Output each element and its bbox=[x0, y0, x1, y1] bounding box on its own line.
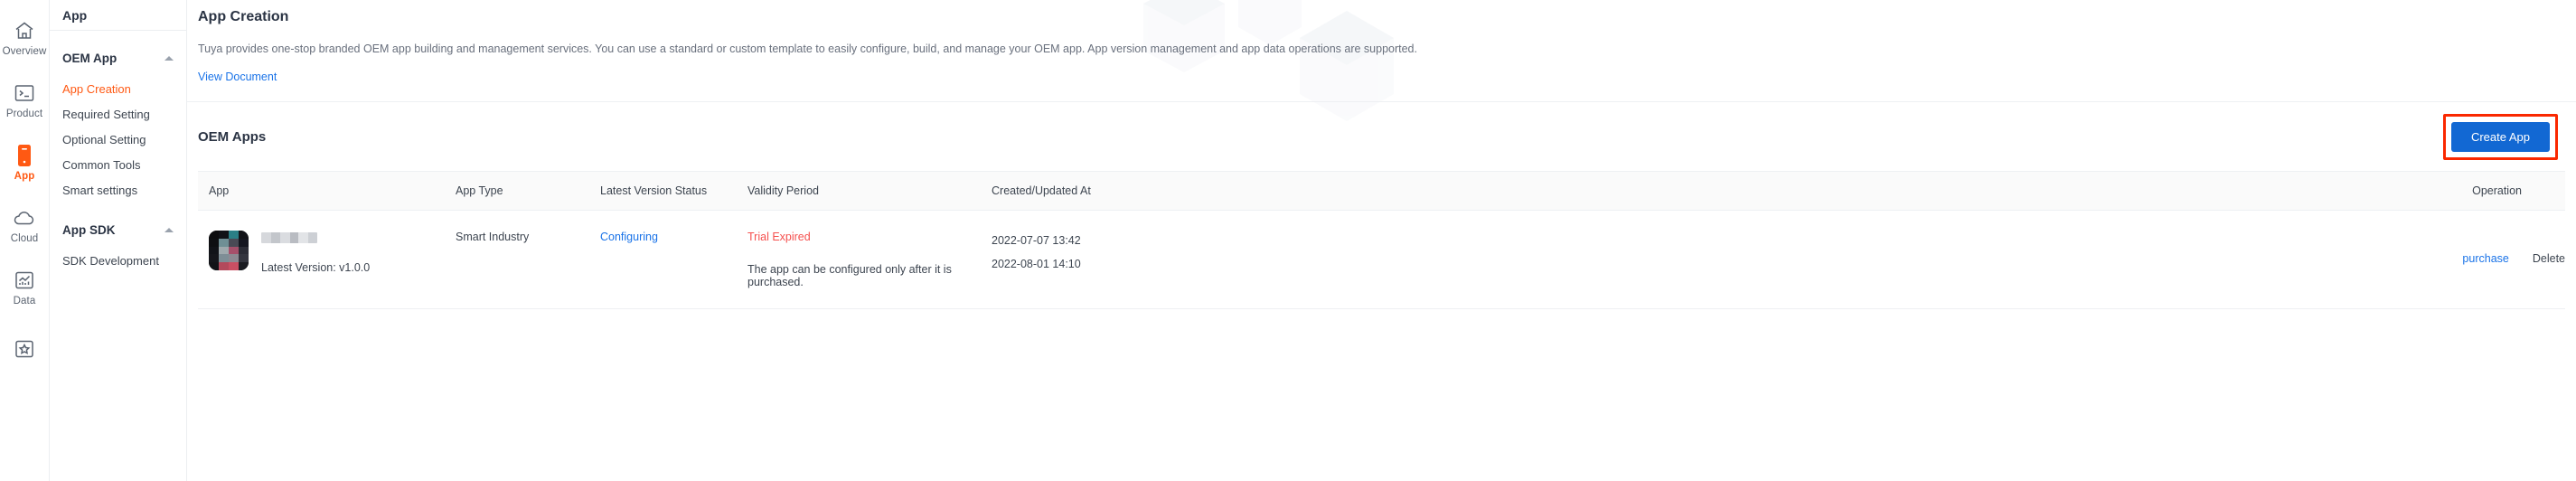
app-name-redacted bbox=[261, 232, 317, 243]
section-title: OEM Apps bbox=[198, 129, 266, 145]
rail-label-data: Data bbox=[14, 296, 36, 307]
updated-at-value: 2022-08-01 14:10 bbox=[992, 254, 1443, 274]
cell-validity-period: Trial Expired The app can be configured … bbox=[747, 211, 992, 309]
nav-group-spacer bbox=[50, 203, 186, 217]
delete-link[interactable]: Delete bbox=[2533, 252, 2565, 265]
rail-label-product: Product bbox=[6, 108, 42, 120]
rail-item-cloud[interactable]: Cloud bbox=[0, 194, 50, 257]
rail-item-product[interactable]: Product bbox=[0, 70, 50, 132]
cell-operation: purchase Delete bbox=[1443, 211, 2565, 309]
sidebar-item-sdk-development[interactable]: SDK Development bbox=[50, 248, 186, 273]
intro-description: Tuya provides one-stop branded OEM app b… bbox=[198, 40, 1735, 58]
app-meta: Latest Version: v1.0.0 bbox=[261, 231, 370, 274]
main-content: App Creation Tuya provides one-stop bran… bbox=[187, 0, 2576, 481]
column-header-created-updated-at: Created/Updated At bbox=[992, 172, 1443, 211]
chart-icon bbox=[13, 269, 36, 292]
nav-group-app-sdk[interactable]: App SDK bbox=[50, 217, 186, 242]
cloud-icon bbox=[13, 206, 36, 230]
thumbnail-mosaic bbox=[209, 231, 249, 270]
sidebar-label-optional-setting: Optional Setting bbox=[62, 133, 146, 146]
section-header: OEM Apps Create App bbox=[198, 102, 2565, 171]
oem-apps-table: App App Type Latest Version Status Valid… bbox=[198, 171, 2565, 309]
column-header-validity-period: Validity Period bbox=[747, 172, 992, 211]
created-at-value: 2022-07-07 13:42 bbox=[992, 231, 1443, 250]
operation-links: purchase Delete bbox=[1443, 231, 2565, 265]
app-icon-thumbnail bbox=[209, 231, 249, 270]
view-document-link[interactable]: View Document bbox=[198, 71, 277, 83]
sidebar-label-required-setting: Required Setting bbox=[62, 108, 150, 121]
sidebar-item-smart-settings[interactable]: Smart settings bbox=[50, 177, 186, 203]
status-badge-trial-expired: Trial Expired bbox=[747, 231, 992, 243]
column-header-latest-version-status: Latest Version Status bbox=[600, 172, 747, 211]
rail-label-app: App bbox=[14, 171, 35, 183]
status-configuring-link[interactable]: Configuring bbox=[600, 231, 658, 243]
sidebar-label-sdk-development: SDK Development bbox=[62, 254, 159, 268]
validity-note: The app can be configured only after it … bbox=[747, 263, 992, 288]
sidebar-label-app-creation: App Creation bbox=[62, 82, 131, 96]
column-header-app: App bbox=[198, 172, 456, 211]
rail-item-app[interactable]: App bbox=[0, 132, 50, 194]
column-header-app-type: App Type bbox=[456, 172, 600, 211]
sidebar-item-required-setting[interactable]: Required Setting bbox=[50, 101, 186, 127]
app-latest-version: Latest Version: v1.0.0 bbox=[261, 261, 370, 274]
sidebar-item-optional-setting[interactable]: Optional Setting bbox=[50, 127, 186, 152]
nav-group-label-app-sdk: App SDK bbox=[62, 223, 116, 237]
star-icon bbox=[13, 337, 36, 361]
purchase-link[interactable]: purchase bbox=[2462, 252, 2508, 265]
subnav-body: OEM App App Creation Required Setting Op… bbox=[50, 31, 186, 273]
rail-label-cloud: Cloud bbox=[11, 233, 39, 245]
rail-item-data[interactable]: Data bbox=[0, 257, 50, 319]
app-root: Overview Product App bbox=[0, 0, 2576, 481]
sidebar-item-app-creation[interactable]: App Creation bbox=[50, 76, 186, 101]
nav-group-oem-app[interactable]: OEM App bbox=[50, 45, 186, 71]
mobile-icon bbox=[13, 144, 36, 167]
primary-nav-rail: Overview Product App bbox=[0, 0, 50, 481]
secondary-nav: App OEM App App Creation Required Settin… bbox=[50, 0, 187, 481]
cell-created-updated-at: 2022-07-07 13:42 2022-08-01 14:10 bbox=[992, 211, 1443, 309]
nav-group-label-oem-app: OEM App bbox=[62, 52, 117, 65]
column-header-operation: Operation bbox=[1443, 172, 2565, 211]
table-body: Latest Version: v1.0.0 Smart Industry Co… bbox=[198, 211, 2565, 309]
create-app-highlight-box: Create App bbox=[2443, 114, 2558, 160]
rail-label-overview: Overview bbox=[3, 46, 47, 58]
terminal-icon bbox=[13, 81, 36, 105]
table-head: App App Type Latest Version Status Valid… bbox=[198, 172, 2565, 211]
cell-app-type: Smart Industry bbox=[456, 211, 600, 309]
app-identity: Latest Version: v1.0.0 bbox=[209, 231, 456, 274]
page-title: App Creation bbox=[198, 9, 2576, 25]
subnav-title: App bbox=[50, 0, 186, 31]
sidebar-label-smart-settings: Smart settings bbox=[62, 184, 137, 197]
rail-item-favorites[interactable] bbox=[0, 319, 50, 382]
cell-latest-version-status: Configuring bbox=[600, 211, 747, 309]
sidebar-item-common-tools[interactable]: Common Tools bbox=[50, 152, 186, 177]
table-row: Latest Version: v1.0.0 Smart Industry Co… bbox=[198, 211, 2565, 309]
intro-panel: App Creation Tuya provides one-stop bran… bbox=[187, 0, 2576, 102]
chevron-up-icon bbox=[165, 228, 174, 232]
create-app-button[interactable]: Create App bbox=[2451, 122, 2550, 152]
oem-apps-section: OEM Apps Create App App App T bbox=[187, 102, 2576, 309]
table-header-row: App App Type Latest Version Status Valid… bbox=[198, 172, 2565, 211]
chevron-up-icon bbox=[165, 56, 174, 61]
sidebar-label-common-tools: Common Tools bbox=[62, 158, 140, 172]
home-icon bbox=[13, 19, 36, 42]
cell-app: Latest Version: v1.0.0 bbox=[198, 211, 456, 309]
rail-item-overview[interactable]: Overview bbox=[0, 7, 50, 70]
